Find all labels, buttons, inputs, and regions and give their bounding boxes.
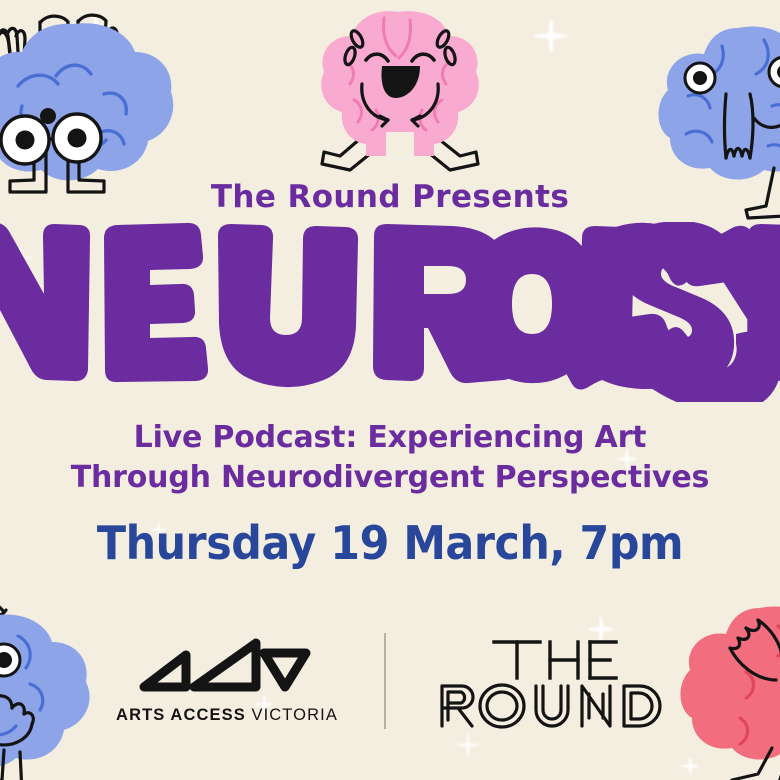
page-title bbox=[0, 222, 780, 402]
subtitle: Live Podcast: Experiencing Art Through N… bbox=[0, 418, 780, 498]
aav-bold-text: ARTS ACCESS bbox=[116, 706, 246, 724]
poster-canvas: The Round Presents bbox=[0, 0, 780, 780]
the-round-logo bbox=[432, 632, 664, 730]
logo-row: ARTS ACCESS VICTORIA bbox=[0, 626, 780, 736]
aav-regular-text: VICTORIA bbox=[252, 706, 338, 724]
sparkle-icon bbox=[681, 757, 699, 775]
arts-access-victoria-mark bbox=[138, 637, 316, 695]
brain-character-laughing bbox=[310, 4, 490, 184]
subtitle-line-1: Live Podcast: Experiencing Art bbox=[0, 418, 780, 458]
event-datetime: Thursday 19 March, 7pm bbox=[27, 516, 752, 570]
presenter-line: The Round Presents bbox=[0, 179, 780, 215]
logo-divider bbox=[384, 633, 386, 729]
brain-character-glasses bbox=[0, 0, 188, 204]
subtitle-line-2: Through Neurodivergent Perspectives bbox=[0, 458, 780, 498]
arts-access-victoria-wordmark: ARTS ACCESS VICTORIA bbox=[116, 706, 338, 725]
sparkle-icon bbox=[457, 734, 479, 756]
sparkle-icon bbox=[534, 19, 568, 53]
arts-access-victoria-logo: ARTS ACCESS VICTORIA bbox=[116, 637, 338, 725]
